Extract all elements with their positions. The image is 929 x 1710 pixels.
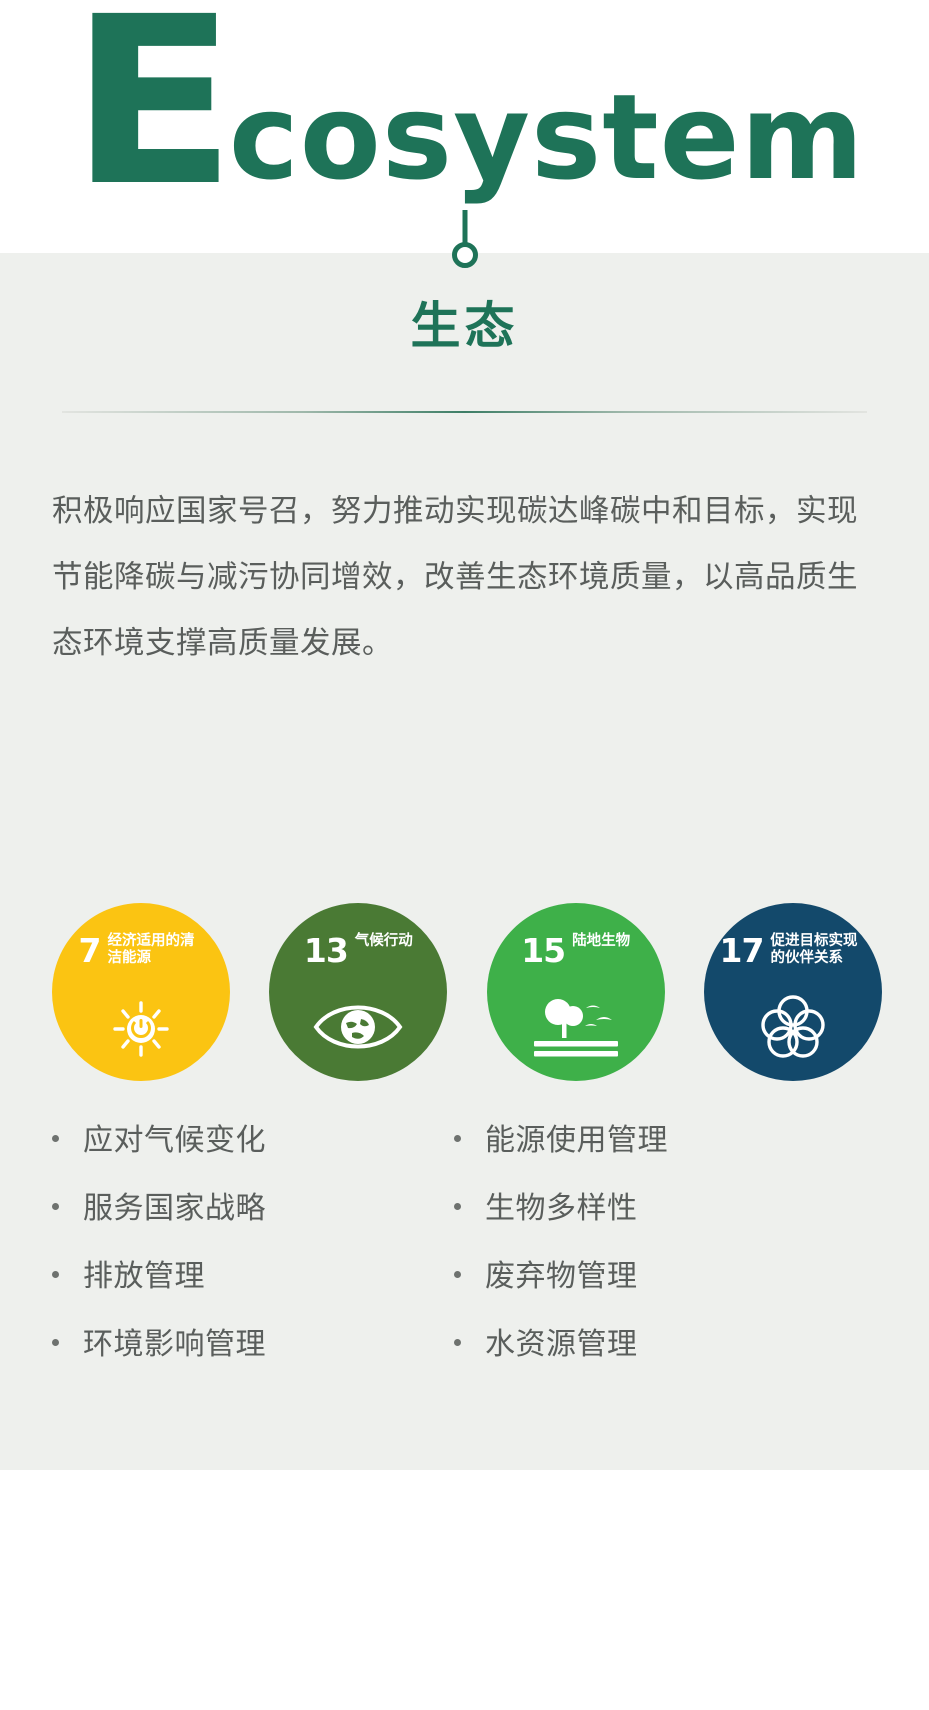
list-item-label: 废弃物管理 (485, 1251, 830, 1295)
list-item-label: 应对气候变化 (83, 1115, 428, 1159)
tree-birds-icon (487, 989, 665, 1065)
bullet-dot-icon (52, 1135, 59, 1142)
brand-wordmark: Ecosystem (0, 0, 929, 218)
sdg-number-17: 17 (720, 934, 764, 967)
sdg-label-7: 经济适用的清洁能源 (107, 933, 203, 967)
sdg-number-13: 13 (304, 934, 348, 967)
sdg-label-13: 气候行动 (355, 933, 413, 950)
sdg-header-13: 13 气候行动 (269, 933, 447, 966)
sdg-label-15: 陆地生物 (572, 933, 630, 950)
bullet-dot-icon (52, 1271, 59, 1278)
sun-power-icon (52, 989, 230, 1065)
sdg-badge-7[interactable]: 7 经济适用的清洁能源 (52, 903, 230, 1081)
bullet-dot-icon (52, 1339, 59, 1346)
interlocking-circles-icon (704, 989, 882, 1065)
sdg-label-17: 促进目标实现的伙伴关系 (770, 933, 866, 967)
topic-list: 应对气候变化 能源使用管理 服务国家战略 生物多样性 排放管理 废弃物管理 环境… (52, 1115, 882, 1387)
list-item[interactable]: 排放管理 (52, 1251, 428, 1319)
list-item[interactable]: 水资源管理 (454, 1319, 830, 1387)
pin-stem-icon (462, 210, 467, 246)
pin-connector (445, 210, 485, 288)
sdg-badge-13[interactable]: 13 气候行动 (269, 903, 447, 1081)
brand-wordmark-text: cosystem (229, 78, 865, 196)
content-panel: 生态 积极响应国家号召，努力推动实现碳达峰碳中和目标，实现节能降碳与减污协同增效… (0, 253, 929, 1470)
list-item-label: 环境影响管理 (83, 1319, 428, 1363)
list-item[interactable]: 环境影响管理 (52, 1319, 428, 1387)
title-divider (62, 411, 867, 413)
list-item[interactable]: 废弃物管理 (454, 1251, 830, 1319)
list-item-label: 水资源管理 (485, 1319, 830, 1363)
sdg-header-15: 15 陆地生物 (487, 933, 665, 966)
list-item[interactable]: 应对气候变化 (52, 1115, 428, 1183)
sdg-badge-15[interactable]: 15 陆地生物 (487, 903, 665, 1081)
page-title: 生态 (0, 301, 929, 351)
list-item[interactable]: 生物多样性 (454, 1183, 830, 1251)
pin-circle-icon (452, 242, 478, 268)
list-item-label: 生物多样性 (485, 1183, 830, 1227)
sdg-number-7: 7 (79, 934, 101, 967)
list-item-label: 服务国家战略 (83, 1183, 428, 1227)
sdg-header-17: 17 促进目标实现的伙伴关系 (704, 933, 882, 967)
list-item[interactable]: 服务国家战略 (52, 1183, 428, 1251)
list-item[interactable]: 能源使用管理 (454, 1115, 830, 1183)
sdg-badge-17[interactable]: 17 促进目标实现的伙伴关系 (704, 903, 882, 1081)
ecosystem-page: Ecosystem 生态 积极响应国家号召，努力推动实现碳达峰碳中和目标，实现节… (0, 0, 929, 1710)
footer-band (0, 1470, 929, 1710)
bullet-dot-icon (454, 1135, 461, 1142)
bullet-dot-icon (454, 1203, 461, 1210)
bullet-dot-icon (454, 1339, 461, 1346)
sdg-header-7: 7 经济适用的清洁能源 (52, 933, 230, 967)
sdg-number-15: 15 (521, 934, 565, 967)
sdg-icon-row: 7 经济适用的清洁能源 (52, 903, 882, 1081)
list-item-label: 能源使用管理 (485, 1115, 830, 1159)
list-item-label: 排放管理 (83, 1251, 428, 1295)
eye-earth-icon (269, 989, 447, 1065)
bullet-dot-icon (454, 1271, 461, 1278)
brand-initial-letter: E (70, 0, 230, 218)
bullet-dot-icon (52, 1203, 59, 1210)
intro-paragraph: 积极响应国家号召，努力推动实现碳达峰碳中和目标，实现节能降碳与减污协同增效，改善… (52, 479, 882, 677)
